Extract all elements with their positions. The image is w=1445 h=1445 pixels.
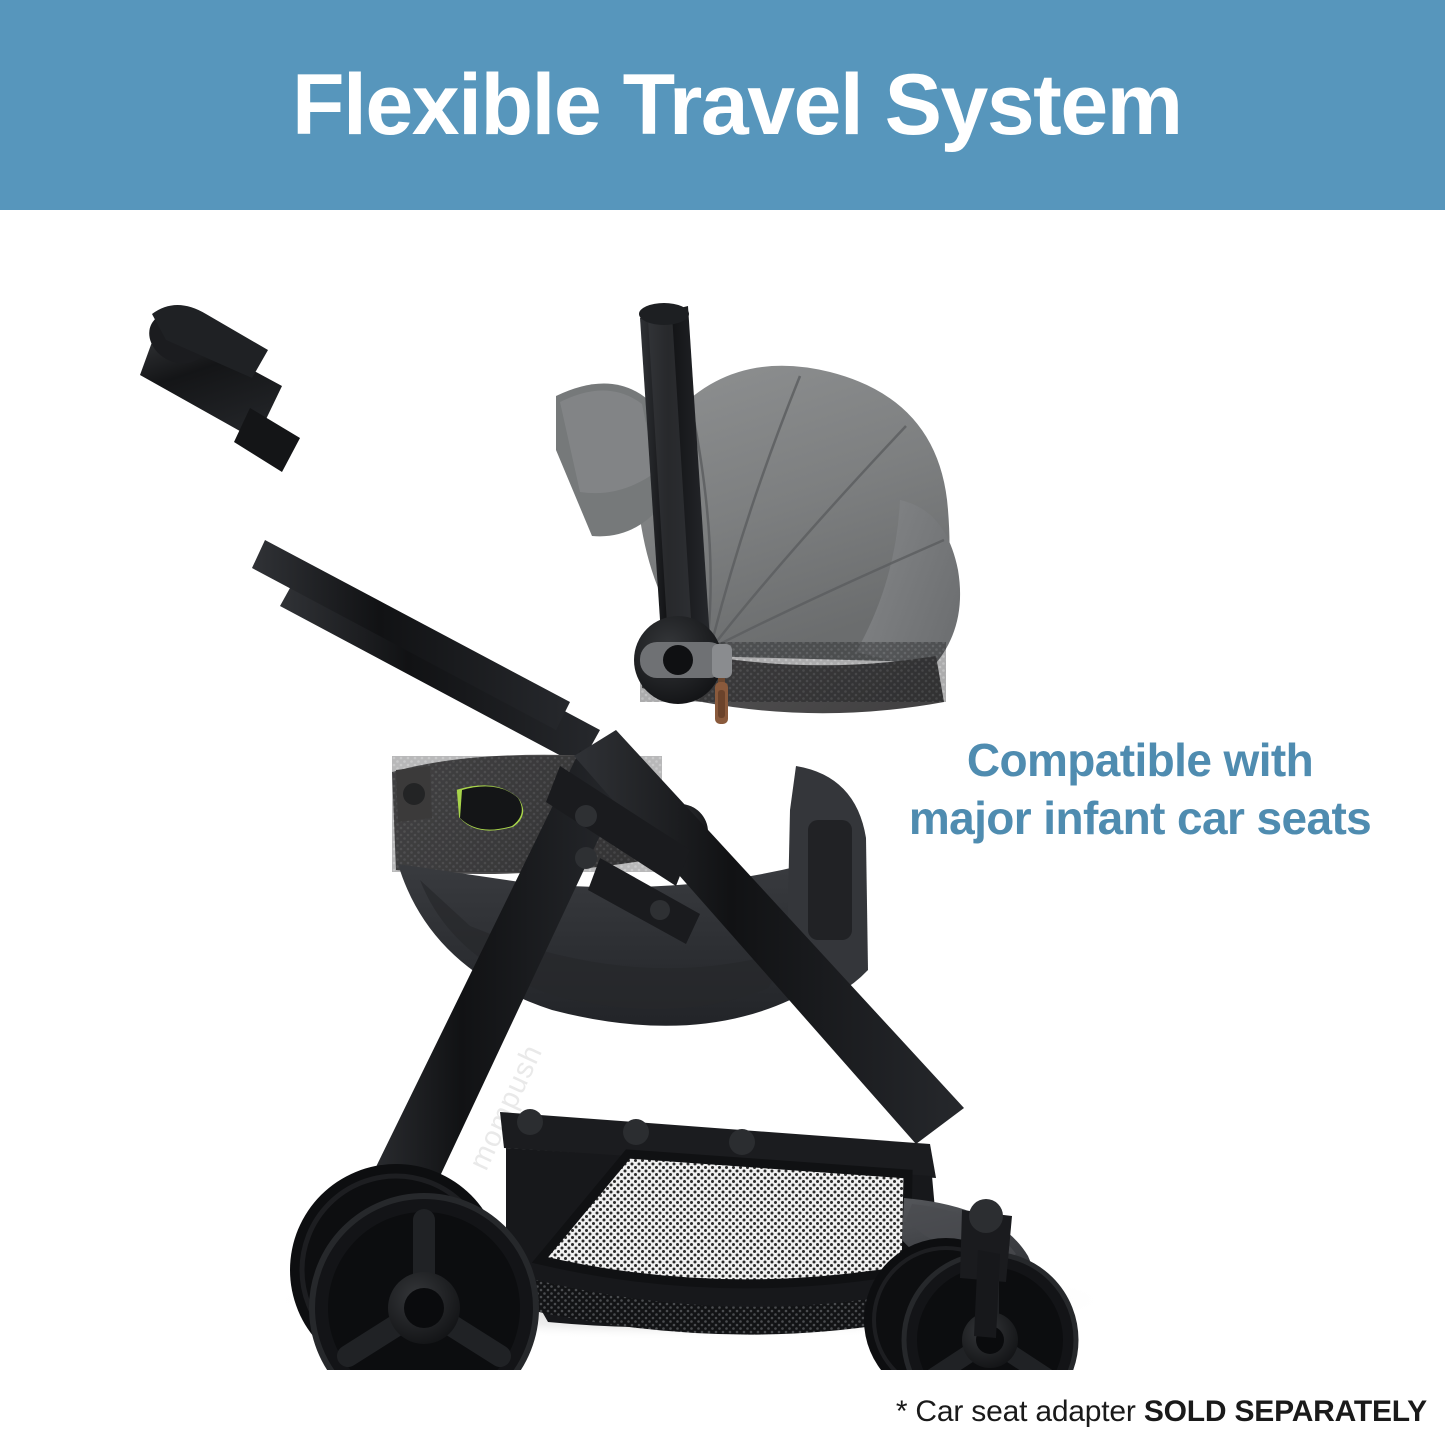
push-handle xyxy=(140,303,600,766)
header-banner: Flexible Travel System xyxy=(0,0,1445,210)
footer-note-bold: SOLD SEPARATELY xyxy=(1144,1395,1427,1428)
page-title: Flexible Travel System xyxy=(292,62,1182,148)
footer-note-light: * Car seat adapter xyxy=(896,1395,1144,1428)
product-marketing-image: Flexible Travel System xyxy=(0,0,1445,1445)
handle-grip xyxy=(140,303,300,472)
callout-line-2: major infant car seats xyxy=(890,790,1390,848)
callout-line-1: Compatible with xyxy=(890,732,1390,790)
footer-disclaimer: * Car seat adapter SOLD SEPARATELY xyxy=(896,1395,1427,1429)
callout-text: Compatible with major infant car seats xyxy=(890,732,1390,848)
